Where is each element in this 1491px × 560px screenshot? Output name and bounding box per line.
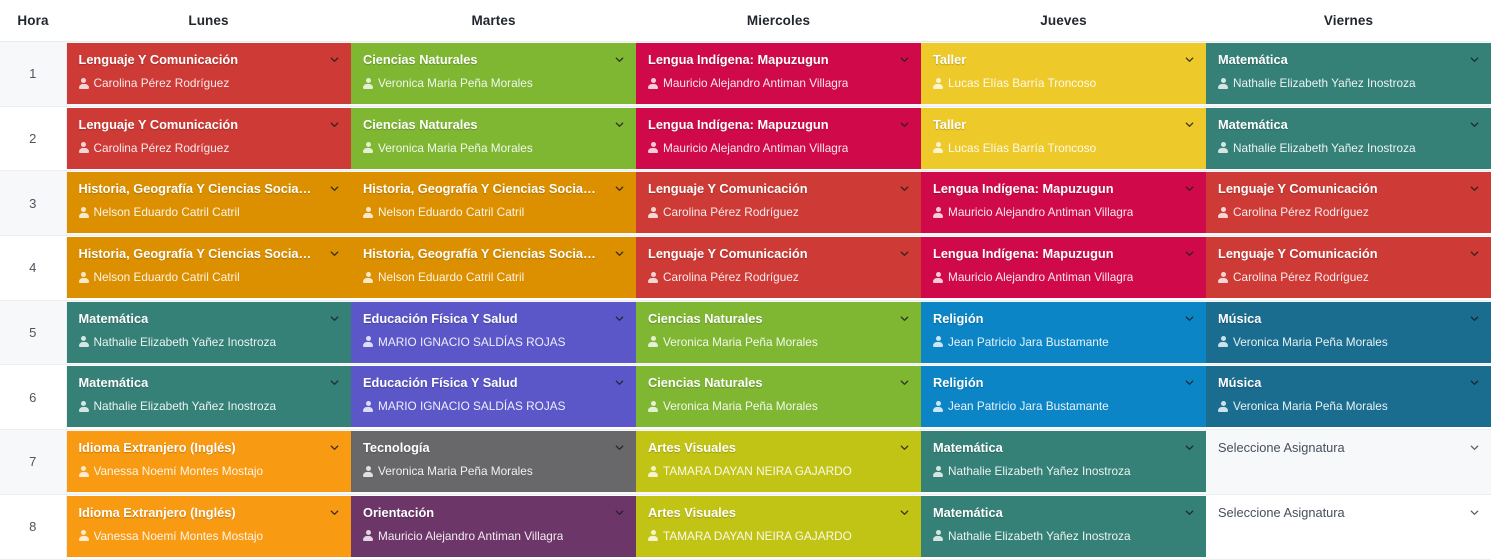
hour-cell: 8 [0,494,66,559]
teacher-name: MARIO IGNACIO SALDÍAS ROJAS [378,335,565,349]
subject-selector[interactable]: Historia, Geografía Y Ciencias SocialesN… [67,237,352,298]
subject-selector[interactable]: Lenguaje Y ComunicaciónCarolina Pérez Ro… [636,172,921,233]
subject-label: Tecnología [363,440,624,455]
person-icon [363,401,373,412]
table-row: 6MatemáticaNathalie Elizabeth Yañez Inos… [0,365,1491,430]
subject-label: Artes Visuales [648,505,909,520]
subject-selector[interactable]: Lengua Indígena: MapuzugunMauricio Aleja… [921,237,1206,298]
teacher-row: Nathalie Elizabeth Yañez Inostroza [1218,76,1479,90]
teacher-name: Veronica Maria Peña Morales [378,464,533,478]
teacher-name: Nelson Eduardo Catril Catril [94,205,240,219]
teacher-row: Mauricio Alejandro Antiman Villagra [648,141,909,155]
subject-label: Historia, Geografía Y Ciencias Sociales [79,181,340,196]
teacher-name: Carolina Pérez Rodríguez [94,76,230,90]
chevron-down-icon[interactable] [899,507,910,518]
teacher-row: Vanessa Noemí Montes Mostajo [79,529,340,543]
teacher-name: Carolina Pérez Rodríguez [663,205,799,219]
person-icon [648,336,658,347]
subject-selector-empty[interactable]: Seleccione Asignatura [1206,431,1491,492]
schedule-cell: MatemáticaNathalie Elizabeth Yañez Inost… [921,430,1206,495]
teacher-row: TAMARA DAYAN NEIRA GAJARDO [648,464,909,478]
schedule-cell: Lengua Indígena: MapuzugunMauricio Aleja… [921,236,1206,301]
teacher-row: Lucas Elías Barría Troncoso [933,141,1194,155]
teacher-row: Nathalie Elizabeth Yañez Inostroza [1218,141,1479,155]
teacher-name: TAMARA DAYAN NEIRA GAJARDO [663,464,852,478]
schedule-cell: MatemáticaNathalie Elizabeth Yañez Inost… [1206,42,1491,107]
chevron-down-icon[interactable] [1184,54,1195,65]
subject-label: Idioma Extranjero (Inglés) [79,440,340,455]
subject-selector[interactable]: Educación Física Y SaludMARIO IGNACIO SA… [351,366,636,427]
subject-label: Seleccione Asignatura [1218,505,1479,520]
teacher-row: Veronica Maria Peña Morales [363,141,624,155]
subject-selector[interactable]: MatemáticaNathalie Elizabeth Yañez Inost… [67,366,352,427]
teacher-name: Jean Patricio Jara Bustamante [948,335,1109,349]
schedule-cell: Seleccione Asignatura [1206,494,1491,559]
hour-cell: 7 [0,430,66,495]
subject-label: Historia, Geografía Y Ciencias Sociales [363,246,624,261]
person-icon [79,142,89,153]
schedule-cell: MatemáticaNathalie Elizabeth Yañez Inost… [1206,106,1491,171]
teacher-row: Carolina Pérez Rodríguez [1218,270,1479,284]
schedule-cell: ReligiónJean Patricio Jara Bustamante [921,300,1206,365]
schedule-cell: Lengua Indígena: MapuzugunMauricio Aleja… [636,106,921,171]
subject-label: Artes Visuales [648,440,909,455]
chevron-down-icon[interactable] [1184,183,1195,194]
chevron-down-icon[interactable] [1469,183,1480,194]
subject-selector[interactable]: MatemáticaNathalie Elizabeth Yañez Inost… [67,302,352,363]
teacher-row: Nelson Eduardo Catril Catril [79,205,340,219]
person-icon [933,207,943,218]
teacher-row: Carolina Pérez Rodríguez [79,141,340,155]
teacher-name: Veronica Maria Peña Morales [1233,335,1388,349]
schedule-cell: Ciencias NaturalesVeronica Maria Peña Mo… [351,106,636,171]
subject-selector[interactable]: Artes VisualesTAMARA DAYAN NEIRA GAJARDO [636,496,921,557]
teacher-row: Mauricio Alejandro Antiman Villagra [933,205,1194,219]
schedule-cell: Artes VisualesTAMARA DAYAN NEIRA GAJARDO [636,430,921,495]
teacher-row: Nelson Eduardo Catril Catril [79,270,340,284]
subject-label: Matemática [79,311,340,326]
chevron-down-icon[interactable] [614,248,625,259]
chevron-down-icon[interactable] [614,119,625,130]
chevron-down-icon[interactable] [329,377,340,388]
person-icon [648,530,658,541]
person-icon [933,78,943,89]
person-icon [79,78,89,89]
teacher-name: Carolina Pérez Rodríguez [663,270,799,284]
schedule-cell: Lenguaje Y ComunicaciónCarolina Pérez Ro… [636,236,921,301]
chevron-down-icon[interactable] [614,507,625,518]
teacher-row: Nathalie Elizabeth Yañez Inostroza [933,464,1194,478]
chevron-down-icon[interactable] [1184,313,1195,324]
teacher-row: Carolina Pérez Rodríguez [79,76,340,90]
teacher-row: Vanessa Noemí Montes Mostajo [79,464,340,478]
teacher-row: Veronica Maria Peña Morales [363,464,624,478]
person-icon [363,336,373,347]
person-icon [79,401,89,412]
chevron-down-icon[interactable] [1184,248,1195,259]
person-icon [1218,336,1228,347]
teacher-name: Lucas Elías Barría Troncoso [948,76,1096,90]
person-icon [648,401,658,412]
subject-selector[interactable]: Lenguaje Y ComunicaciónCarolina Pérez Ro… [67,108,352,169]
chevron-down-icon[interactable] [899,248,910,259]
hour-cell: 6 [0,365,66,430]
chevron-down-icon[interactable] [1184,507,1195,518]
teacher-name: Mauricio Alejandro Antiman Villagra [948,205,1133,219]
subject-selector[interactable]: Ciencias NaturalesVeronica Maria Peña Mo… [351,43,636,104]
chevron-down-icon[interactable] [329,248,340,259]
subject-label: Lenguaje Y Comunicación [79,52,340,67]
subject-label: Lengua Indígena: Mapuzugun [933,246,1194,261]
table-row: 1Lenguaje Y ComunicaciónCarolina Pérez R… [0,42,1491,107]
person-icon [933,401,943,412]
schedule-cell: ReligiónJean Patricio Jara Bustamante [921,365,1206,430]
subject-selector[interactable]: Idioma Extranjero (Inglés)Vanessa Noemí … [67,496,352,557]
table-row: 8Idioma Extranjero (Inglés)Vanessa Noemí… [0,494,1491,559]
chevron-down-icon[interactable] [1469,54,1480,65]
person-icon [79,336,89,347]
subject-selector[interactable]: TallerLucas Elías Barría Troncoso [921,43,1206,104]
person-icon [1218,272,1228,283]
teacher-name: Carolina Pérez Rodríguez [1233,205,1369,219]
table-row: 7Idioma Extranjero (Inglés)Vanessa Noemí… [0,430,1491,495]
person-icon [648,466,658,477]
person-icon [933,272,943,283]
chevron-down-icon[interactable] [329,54,340,65]
person-icon [648,272,658,283]
hour-cell: 1 [0,42,66,107]
subject-selector[interactable]: MatemáticaNathalie Elizabeth Yañez Inost… [921,496,1206,557]
subject-selector[interactable]: Lenguaje Y ComunicaciónCarolina Pérez Ro… [67,43,352,104]
subject-label: Matemática [1218,117,1479,132]
chevron-down-icon[interactable] [899,183,910,194]
subject-label: Taller [933,52,1194,67]
subject-selector[interactable]: ReligiónJean Patricio Jara Bustamante [921,302,1206,363]
schedule-cell: Historia, Geografía Y Ciencias SocialesN… [66,236,351,301]
subject-selector[interactable]: Artes VisualesTAMARA DAYAN NEIRA GAJARDO [636,431,921,492]
teacher-name: Veronica Maria Peña Morales [1233,399,1388,413]
teacher-name: Veronica Maria Peña Morales [378,76,533,90]
subject-selector[interactable]: MatemáticaNathalie Elizabeth Yañez Inost… [1206,108,1491,169]
person-icon [933,530,943,541]
teacher-name: Mauricio Alejandro Antiman Villagra [663,141,848,155]
teacher-name: Nathalie Elizabeth Yañez Inostroza [94,335,277,349]
schedule-cell: OrientaciónMauricio Alejandro Antiman Vi… [351,494,636,559]
person-icon [363,272,373,283]
table-row: 3Historia, Geografía Y Ciencias Sociales… [0,171,1491,236]
person-icon [1218,78,1228,89]
subject-label: Seleccione Asignatura [1218,440,1479,455]
column-header-miercoles: Miercoles [636,0,921,42]
schedule-cell: MatemáticaNathalie Elizabeth Yañez Inost… [66,300,351,365]
schedule-cell: MúsicaVeronica Maria Peña Morales [1206,365,1491,430]
schedule-cell: Historia, Geografía Y Ciencias SocialesN… [351,171,636,236]
subject-selector[interactable]: MúsicaVeronica Maria Peña Morales [1206,302,1491,363]
chevron-down-icon[interactable] [614,183,625,194]
teacher-row: Nathalie Elizabeth Yañez Inostroza [79,399,340,413]
hour-cell: 4 [0,236,66,301]
subject-selector[interactable]: Lengua Indígena: MapuzugunMauricio Aleja… [636,108,921,169]
teacher-row: Lucas Elías Barría Troncoso [933,76,1194,90]
subject-selector[interactable]: Lengua Indígena: MapuzugunMauricio Aleja… [636,43,921,104]
chevron-down-icon[interactable] [899,377,910,388]
schedule-cell: MatemáticaNathalie Elizabeth Yañez Inost… [66,365,351,430]
teacher-name: Nathalie Elizabeth Yañez Inostroza [94,399,277,413]
teacher-name: Jean Patricio Jara Bustamante [948,399,1109,413]
chevron-down-icon[interactable] [1184,377,1195,388]
person-icon [363,142,373,153]
schedule-cell: Artes VisualesTAMARA DAYAN NEIRA GAJARDO [636,494,921,559]
subject-selector[interactable]: Ciencias NaturalesVeronica Maria Peña Mo… [636,366,921,427]
teacher-row: Mauricio Alejandro Antiman Villagra [933,270,1194,284]
subject-selector[interactable]: Idioma Extranjero (Inglés)Vanessa Noemí … [67,431,352,492]
hour-cell: 3 [0,171,66,236]
teacher-row: Nelson Eduardo Catril Catril [363,270,624,284]
teacher-name: Nelson Eduardo Catril Catril [378,205,524,219]
subject-label: Lenguaje Y Comunicación [79,117,340,132]
subject-label: Matemática [933,440,1194,455]
chevron-down-icon[interactable] [1469,442,1480,453]
teacher-name: Nathalie Elizabeth Yañez Inostroza [1233,76,1416,90]
subject-label: Lenguaje Y Comunicación [1218,246,1479,261]
header-row: Hora Lunes Martes Miercoles Jueves Viern… [0,0,1491,42]
subject-label: Religión [933,311,1194,326]
subject-label: Matemática [933,505,1194,520]
teacher-name: Mauricio Alejandro Antiman Villagra [663,76,848,90]
subject-selector[interactable]: Ciencias NaturalesVeronica Maria Peña Mo… [636,302,921,363]
teacher-row: Mauricio Alejandro Antiman Villagra [363,529,624,543]
schedule-cell: Lenguaje Y ComunicaciónCarolina Pérez Ro… [1206,171,1491,236]
subject-label: Lengua Indígena: Mapuzugun [648,117,909,132]
subject-selector[interactable]: MatemáticaNathalie Elizabeth Yañez Inost… [921,431,1206,492]
teacher-row: Carolina Pérez Rodríguez [648,270,909,284]
person-icon [1218,207,1228,218]
subject-label: Orientación [363,505,624,520]
chevron-down-icon[interactable] [1184,442,1195,453]
chevron-down-icon[interactable] [899,442,910,453]
schedule-cell: Educación Física Y SaludMARIO IGNACIO SA… [351,365,636,430]
teacher-row: TAMARA DAYAN NEIRA GAJARDO [648,529,909,543]
subject-selector[interactable]: TallerLucas Elías Barría Troncoso [921,108,1206,169]
person-icon [933,466,943,477]
chevron-down-icon[interactable] [899,54,910,65]
teacher-name: Carolina Pérez Rodríguez [94,141,230,155]
chevron-down-icon[interactable] [1469,313,1480,324]
person-icon [648,207,658,218]
person-icon [648,78,658,89]
subject-selector[interactable]: TecnologíaVeronica Maria Peña Morales [351,431,636,492]
schedule-cell: Idioma Extranjero (Inglés)Vanessa Noemí … [66,430,351,495]
teacher-name: Mauricio Alejandro Antiman Villagra [378,529,563,543]
teacher-name: Vanessa Noemí Montes Mostajo [94,464,264,478]
schedule-cell: TallerLucas Elías Barría Troncoso [921,106,1206,171]
chevron-down-icon[interactable] [614,54,625,65]
chevron-down-icon[interactable] [329,313,340,324]
subject-label: Lenguaje Y Comunicación [648,246,909,261]
teacher-row: Nelson Eduardo Catril Catril [363,205,624,219]
subject-label: Ciencias Naturales [363,117,624,132]
subject-label: Música [1218,375,1479,390]
teacher-name: Veronica Maria Peña Morales [663,335,818,349]
table-row: 5MatemáticaNathalie Elizabeth Yañez Inos… [0,300,1491,365]
subject-selector[interactable]: Lenguaje Y ComunicaciónCarolina Pérez Ro… [636,237,921,298]
person-icon [363,78,373,89]
teacher-row: Nathalie Elizabeth Yañez Inostroza [933,529,1194,543]
teacher-name: Nathalie Elizabeth Yañez Inostroza [948,529,1131,543]
teacher-row: Jean Patricio Jara Bustamante [933,399,1194,413]
subject-label: Ciencias Naturales [363,52,624,67]
teacher-name: Lucas Elías Barría Troncoso [948,141,1096,155]
teacher-row: Veronica Maria Peña Morales [363,76,624,90]
person-icon [1218,401,1228,412]
subject-label: Matemática [1218,52,1479,67]
chevron-down-icon[interactable] [614,442,625,453]
column-header-lunes: Lunes [66,0,351,42]
chevron-down-icon[interactable] [614,377,625,388]
teacher-row: MARIO IGNACIO SALDÍAS ROJAS [363,399,624,413]
schedule-cell: Ciencias NaturalesVeronica Maria Peña Mo… [636,365,921,430]
subject-label: Idioma Extranjero (Inglés) [79,505,340,520]
subject-selector[interactable]: Lenguaje Y ComunicaciónCarolina Pérez Ro… [1206,172,1491,233]
teacher-row: Veronica Maria Peña Morales [648,399,909,413]
schedule-cell: Idioma Extranjero (Inglés)Vanessa Noemí … [66,494,351,559]
teacher-name: Vanessa Noemí Montes Mostajo [94,529,264,543]
person-icon [363,207,373,218]
teacher-name: TAMARA DAYAN NEIRA GAJARDO [663,529,852,543]
teacher-row: Veronica Maria Peña Morales [1218,399,1479,413]
person-icon [79,466,89,477]
teacher-name: Carolina Pérez Rodríguez [1233,270,1369,284]
subject-selector[interactable]: Lenguaje Y ComunicaciónCarolina Pérez Ro… [1206,237,1491,298]
column-header-martes: Martes [351,0,636,42]
subject-label: Historia, Geografía Y Ciencias Sociales [363,181,624,196]
chevron-down-icon[interactable] [1469,507,1480,518]
subject-selector[interactable]: Historia, Geografía Y Ciencias SocialesN… [67,172,352,233]
schedule-cell: Educación Física Y SaludMARIO IGNACIO SA… [351,300,636,365]
schedule-cell: Ciencias NaturalesVeronica Maria Peña Mo… [351,42,636,107]
teacher-name: Nelson Eduardo Catril Catril [378,270,524,284]
subject-label: Lenguaje Y Comunicación [1218,181,1479,196]
chevron-down-icon[interactable] [1184,119,1195,130]
teacher-row: Carolina Pérez Rodríguez [1218,205,1479,219]
teacher-name: Nelson Eduardo Catril Catril [94,270,240,284]
teacher-name: Veronica Maria Peña Morales [663,399,818,413]
teacher-row: MARIO IGNACIO SALDÍAS ROJAS [363,335,624,349]
chevron-down-icon[interactable] [614,313,625,324]
subject-selector[interactable]: OrientaciónMauricio Alejandro Antiman Vi… [351,496,636,557]
subject-selector[interactable]: Lengua Indígena: MapuzugunMauricio Aleja… [921,172,1206,233]
schedule-cell: Lenguaje Y ComunicaciónCarolina Pérez Ro… [66,42,351,107]
subject-label: Religión [933,375,1194,390]
table-row: 4Historia, Geografía Y Ciencias Sociales… [0,236,1491,301]
person-icon [1218,142,1228,153]
subject-label: Ciencias Naturales [648,311,909,326]
table-header: Hora Lunes Martes Miercoles Jueves Viern… [0,0,1491,42]
person-icon [79,207,89,218]
schedule-cell: MúsicaVeronica Maria Peña Morales [1206,300,1491,365]
teacher-row: Veronica Maria Peña Morales [648,335,909,349]
hour-cell: 5 [0,300,66,365]
person-icon [648,142,658,153]
subject-selector[interactable]: Educación Física Y SaludMARIO IGNACIO SA… [351,302,636,363]
teacher-row: Carolina Pérez Rodríguez [648,205,909,219]
schedule-cell: TallerLucas Elías Barría Troncoso [921,42,1206,107]
teacher-name: Nathalie Elizabeth Yañez Inostroza [948,464,1131,478]
subject-selector[interactable]: MúsicaVeronica Maria Peña Morales [1206,366,1491,427]
person-icon [363,466,373,477]
chevron-down-icon[interactable] [1469,119,1480,130]
person-icon [79,530,89,541]
person-icon [363,530,373,541]
subject-selector[interactable]: Historia, Geografía Y Ciencias SocialesN… [351,237,636,298]
subject-label: Matemática [79,375,340,390]
schedule-cell: Lengua Indígena: MapuzugunMauricio Aleja… [921,171,1206,236]
subject-label: Historia, Geografía Y Ciencias Sociales [79,246,340,261]
chevron-down-icon[interactable] [1469,248,1480,259]
schedule-cell: Ciencias NaturalesVeronica Maria Peña Mo… [636,300,921,365]
schedule-cell: Historia, Geografía Y Ciencias SocialesN… [66,171,351,236]
schedule-cell: MatemáticaNathalie Elizabeth Yañez Inost… [921,494,1206,559]
hour-cell: 2 [0,106,66,171]
chevron-down-icon[interactable] [329,183,340,194]
person-icon [933,336,943,347]
chevron-down-icon[interactable] [329,507,340,518]
chevron-down-icon[interactable] [329,119,340,130]
teacher-row: Jean Patricio Jara Bustamante [933,335,1194,349]
subject-label: Lengua Indígena: Mapuzugun [648,52,909,67]
table-body: 1Lenguaje Y ComunicaciónCarolina Pérez R… [0,42,1491,560]
schedule-cell: TecnologíaVeronica Maria Peña Morales [351,430,636,495]
column-header-jueves: Jueves [921,0,1206,42]
schedule-table: Hora Lunes Martes Miercoles Jueves Viern… [0,0,1491,560]
schedule-cell: Lenguaje Y ComunicaciónCarolina Pérez Ro… [1206,236,1491,301]
subject-label: Educación Física Y Salud [363,311,624,326]
subject-selector[interactable]: Historia, Geografía Y Ciencias SocialesN… [351,172,636,233]
teacher-row: Nathalie Elizabeth Yañez Inostroza [79,335,340,349]
subject-label: Ciencias Naturales [648,375,909,390]
column-header-viernes: Viernes [1206,0,1491,42]
subject-label: Lengua Indígena: Mapuzugun [933,181,1194,196]
teacher-name: Nathalie Elizabeth Yañez Inostroza [1233,141,1416,155]
schedule-cell: Lengua Indígena: MapuzugunMauricio Aleja… [636,42,921,107]
subject-selector[interactable]: Ciencias NaturalesVeronica Maria Peña Mo… [351,108,636,169]
subject-label: Educación Física Y Salud [363,375,624,390]
chevron-down-icon[interactable] [1469,377,1480,388]
chevron-down-icon[interactable] [329,442,340,453]
teacher-name: Mauricio Alejandro Antiman Villagra [948,270,1133,284]
subject-selector[interactable]: MatemáticaNathalie Elizabeth Yañez Inost… [1206,43,1491,104]
subject-label: Taller [933,117,1194,132]
schedule-cell: Lenguaje Y ComunicaciónCarolina Pérez Ro… [66,106,351,171]
teacher-name: Veronica Maria Peña Morales [378,141,533,155]
person-icon [933,142,943,153]
subject-label: Música [1218,311,1479,326]
table-row: 2Lenguaje Y ComunicaciónCarolina Pérez R… [0,106,1491,171]
person-icon [79,272,89,283]
teacher-row: Mauricio Alejandro Antiman Villagra [648,76,909,90]
subject-selector[interactable]: ReligiónJean Patricio Jara Bustamante [921,366,1206,427]
teacher-row: Veronica Maria Peña Morales [1218,335,1479,349]
chevron-down-icon[interactable] [899,313,910,324]
schedule-cell: Seleccione Asignatura [1206,430,1491,495]
schedule-cell: Lenguaje Y ComunicaciónCarolina Pérez Ro… [636,171,921,236]
column-header-hora: Hora [0,0,66,42]
subject-label: Lenguaje Y Comunicación [648,181,909,196]
schedule-cell: Historia, Geografía Y Ciencias SocialesN… [351,236,636,301]
chevron-down-icon[interactable] [899,119,910,130]
subject-selector-empty[interactable]: Seleccione Asignatura [1206,496,1491,557]
teacher-name: MARIO IGNACIO SALDÍAS ROJAS [378,399,565,413]
